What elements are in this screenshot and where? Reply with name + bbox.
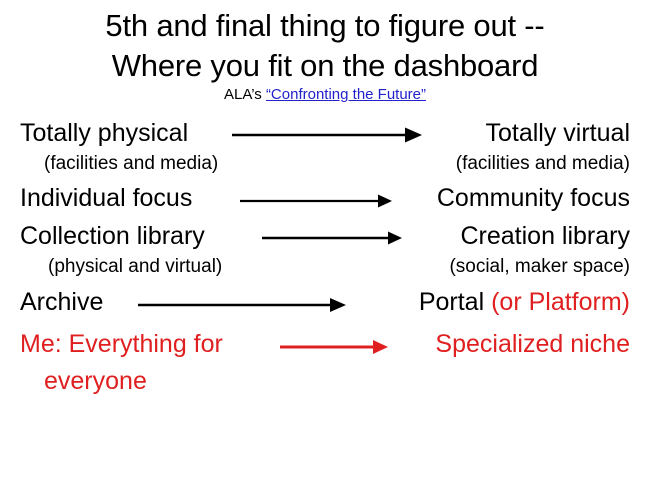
row-1-left-label: Totally physical bbox=[20, 116, 188, 150]
arrow-right-icon bbox=[280, 324, 388, 364]
row-1-left-sublabel: (facilities and media) bbox=[44, 150, 218, 177]
transition-rows: Totally physical Totally virtual (facili… bbox=[0, 116, 650, 398]
slide-canvas: 5th and final thing to figure out -- Whe… bbox=[0, 0, 650, 487]
row-2-main: Individual focus Community focus bbox=[0, 177, 650, 219]
row-5-right-label: Specialized niche bbox=[435, 324, 630, 364]
row-3-main: Collection library Creation library bbox=[0, 219, 650, 253]
row-5-left-label-continued: everyone bbox=[44, 364, 147, 398]
row-3-right-label: Creation library bbox=[460, 219, 630, 253]
row-2-left-label: Individual focus bbox=[20, 177, 192, 219]
table-row: Collection library Creation library (phy… bbox=[0, 219, 650, 280]
row-5-main: Me: Everything for Specialized niche bbox=[0, 324, 650, 364]
subtitle: ALA’s “Confronting the Future” bbox=[0, 86, 650, 104]
confronting-the-future-link[interactable]: “Confronting the Future” bbox=[266, 86, 426, 103]
row-2-right-label: Community focus bbox=[437, 177, 630, 219]
row-3-left-sublabel: (physical and virtual) bbox=[48, 253, 222, 280]
arrow-right-icon bbox=[138, 280, 346, 324]
table-row: Totally physical Totally virtual (facili… bbox=[0, 116, 650, 177]
arrow-right-icon bbox=[262, 219, 402, 253]
row-4-right-primary: Portal bbox=[419, 288, 484, 316]
title-line-2: Where you fit on the dashboard bbox=[0, 46, 650, 86]
row-5-continuation: everyone bbox=[0, 364, 650, 398]
row-5-left-label: Me: Everything for bbox=[20, 324, 223, 364]
row-1-right-sublabel: (facilities and media) bbox=[456, 150, 630, 177]
page-title: 5th and final thing to figure out -- Whe… bbox=[0, 6, 650, 86]
row-4-left-label: Archive bbox=[20, 280, 103, 324]
arrow-right-icon bbox=[232, 116, 422, 150]
table-row: Me: Everything for Specialized niche eve… bbox=[0, 324, 650, 398]
row-4-right-suffix: (or Platform) bbox=[491, 288, 630, 316]
row-1-right-label: Totally virtual bbox=[486, 116, 631, 150]
row-4-main: Archive Portal (or Platform) bbox=[0, 280, 650, 324]
row-1-sub: (facilities and media) (facilities and m… bbox=[0, 150, 650, 177]
title-line-1: 5th and final thing to figure out -- bbox=[0, 6, 650, 46]
row-1-main: Totally physical Totally virtual bbox=[0, 116, 650, 150]
table-row: Archive Portal (or Platform) bbox=[0, 280, 650, 324]
arrow-right-icon bbox=[240, 177, 392, 219]
row-3-right-sublabel: (social, maker space) bbox=[449, 253, 630, 280]
row-4-right-label: Portal (or Platform) bbox=[419, 280, 630, 324]
table-row: Individual focus Community focus bbox=[0, 177, 650, 219]
row-3-sub: (physical and virtual) (social, maker sp… bbox=[0, 253, 650, 280]
subtitle-prefix: ALA’s bbox=[224, 86, 266, 103]
row-3-left-label: Collection library bbox=[20, 219, 205, 253]
